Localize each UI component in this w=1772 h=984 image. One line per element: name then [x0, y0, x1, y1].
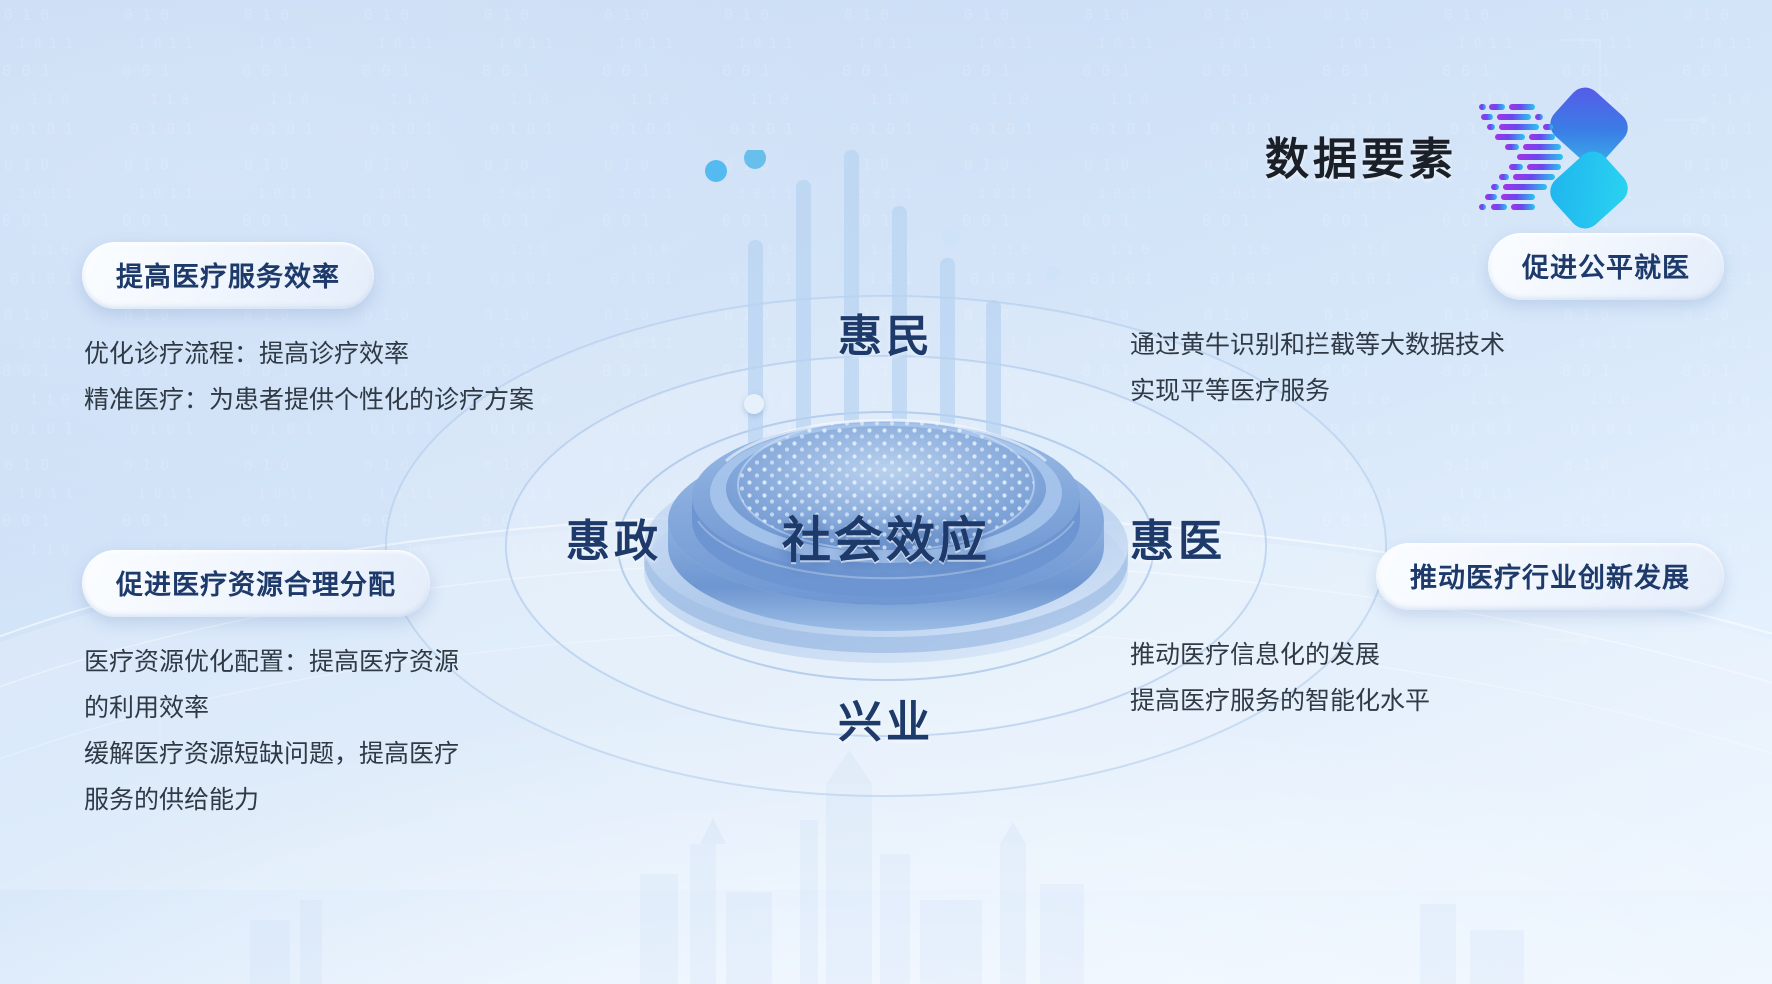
body-line: 通过黄牛识别和拦截等大数据技术: [1130, 322, 1722, 368]
info-block-top-left: 提高医疗服务效率 优化诊疗流程：提高诊疗效率 精准医疗：为患者提供个性化的诊疗方…: [60, 242, 534, 423]
orbit-label-top: 惠民: [838, 300, 934, 364]
info-block-top-right: 促进公平就医 通过黄牛识别和拦截等大数据技术 实现平等医疗服务: [1120, 233, 1730, 414]
body-line: 服务的供给能力: [84, 777, 459, 823]
body-line: 实现平等医疗服务: [1130, 368, 1722, 414]
block-title-bottom-left[interactable]: 促进医疗资源合理分配: [82, 550, 430, 617]
body-line: 提高医疗服务的智能化水平: [1130, 678, 1722, 724]
slide-canvas: 0 1 0 1 0 1 1 0 0 1 1 1 0 0 1 0 1: [0, 0, 1772, 984]
brand-lockup: 数据要素: [1265, 80, 1641, 230]
info-block-bottom-left: 促进医疗资源合理分配 医疗资源优化配置：提高医疗资源 的利用效率 缓解医疗资源短…: [60, 550, 459, 823]
orbit-label-bottom: 兴业: [838, 686, 934, 750]
info-block-bottom-right: 推动医疗行业创新发展 推动医疗信息化的发展 提高医疗服务的智能化水平: [1120, 543, 1730, 724]
brand-title: 数据要素: [1265, 123, 1457, 187]
block-title-top-right[interactable]: 促进公平就医: [1488, 233, 1724, 300]
orbit-label-left: 惠政: [566, 505, 662, 569]
body-line: 医疗资源优化配置：提高医疗资源: [84, 639, 459, 685]
block-body-bottom-right: 推动医疗信息化的发展 提高医疗服务的智能化水平: [1120, 632, 1730, 724]
central-disc: 社会效应: [626, 375, 1146, 675]
block-body-top-left: 优化诊疗流程：提高诊疗效率 精准医疗：为患者提供个性化的诊疗方案: [60, 331, 534, 423]
body-line: 缓解医疗资源短缺问题，提高医疗: [84, 731, 459, 777]
decorative-dot: [705, 160, 727, 182]
x-logo: [1471, 80, 1641, 230]
body-line: 优化诊疗流程：提高诊疗效率: [84, 331, 534, 377]
disc-center-label: 社会效应: [626, 501, 1146, 572]
body-line: 推动医疗信息化的发展: [1130, 632, 1722, 678]
block-body-top-right: 通过黄牛识别和拦截等大数据技术 实现平等医疗服务: [1120, 322, 1730, 414]
block-title-top-left[interactable]: 提高医疗服务效率: [82, 242, 374, 309]
decorative-dot: [1046, 266, 1060, 280]
block-title-bottom-right[interactable]: 推动医疗行业创新发展: [1376, 543, 1724, 610]
body-line: 的利用效率: [84, 685, 459, 731]
body-line: 精准医疗：为患者提供个性化的诊疗方案: [84, 377, 534, 423]
block-body-bottom-left: 医疗资源优化配置：提高医疗资源 的利用效率 缓解医疗资源短缺问题，提高医疗 服务…: [60, 639, 459, 823]
